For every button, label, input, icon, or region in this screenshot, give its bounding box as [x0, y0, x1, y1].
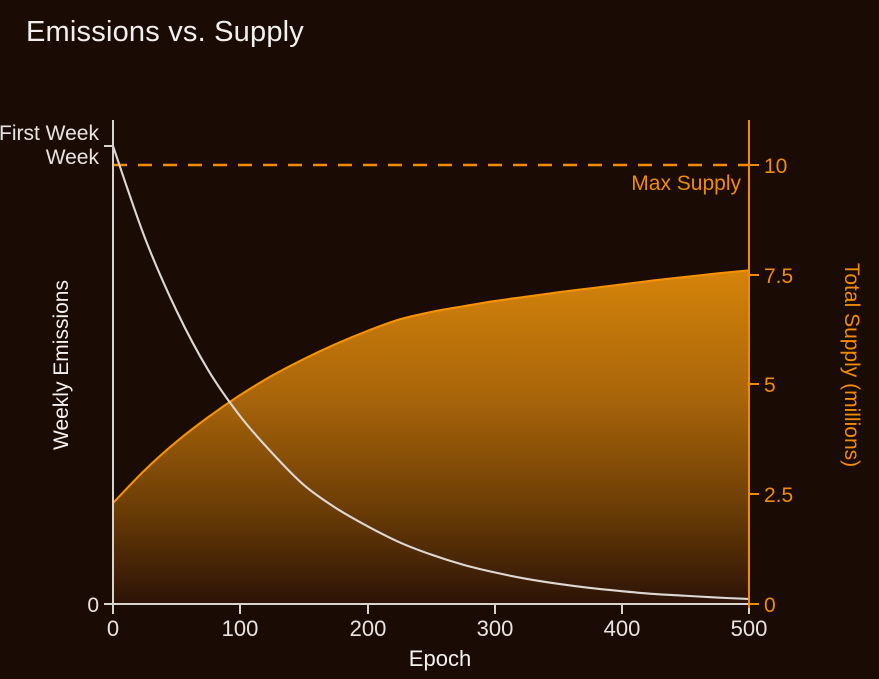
x-tick-label-300: 300: [477, 616, 514, 641]
x-tick-label-100: 100: [222, 616, 259, 641]
chart-canvas: Emissions vs. Supply First Week: [0, 0, 879, 679]
right-axis-title: Total Supply (millions): [840, 263, 863, 467]
right-tick-label-0: 0: [764, 594, 776, 617]
right-axis-ticks: [749, 165, 759, 604]
x-tick-label-500: 500: [731, 616, 768, 641]
x-axis-title: Epoch: [409, 646, 471, 671]
left-tick-label-week: Week: [46, 146, 100, 169]
x-tick-label-0: 0: [107, 616, 119, 641]
left-tick-label-zero: 0: [87, 594, 99, 617]
left-axis-title: Weekly Emissions: [50, 280, 73, 450]
right-tick-label-10: 10: [764, 155, 787, 178]
left-tick-label-first: First Week: [0, 122, 99, 145]
x-tick-label-200: 200: [350, 616, 387, 641]
right-tick-label-5: 5: [764, 374, 776, 397]
right-tick-label-2.5: 2.5: [764, 484, 793, 507]
right-tick-label-7.5: 7.5: [764, 265, 793, 288]
x-axis-ticks: [113, 604, 749, 614]
x-tick-label-400: 400: [604, 616, 641, 641]
chart-svg: First Week Week 0 Weekly Emissions 0 100…: [0, 0, 879, 679]
max-supply-annotation: Max Supply: [631, 172, 741, 195]
